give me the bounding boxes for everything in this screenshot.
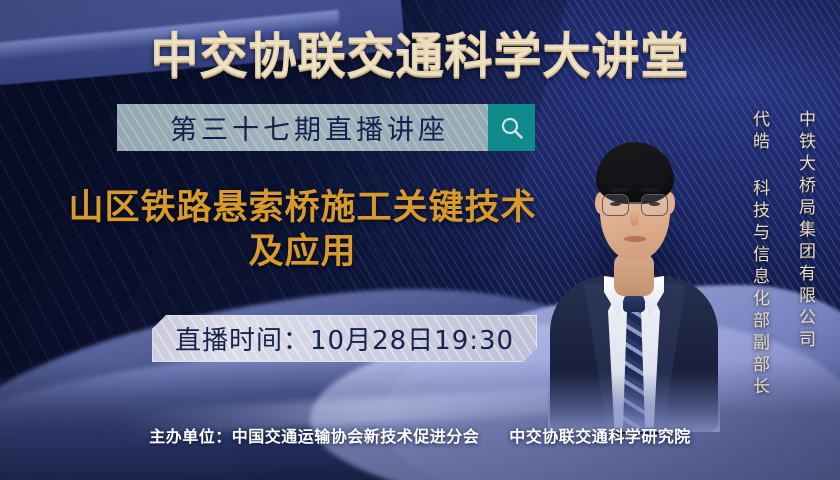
glasses-bridge bbox=[629, 202, 641, 204]
speaker-name-title: 代皓 科技与信息化部副部长 bbox=[747, 110, 772, 399]
search-icon bbox=[499, 115, 525, 141]
portrait-mouth bbox=[624, 236, 646, 242]
footer-org-2: 中交协联交通科学研究院 bbox=[509, 427, 691, 446]
footer-organizers: 主办单位：中国交通运输协会新技术促进分会中交协联交通科学研究院 bbox=[0, 423, 840, 447]
session-bar: 第三十七期直播讲座 bbox=[117, 104, 535, 151]
session-label: 第三十七期直播讲座 bbox=[117, 108, 488, 147]
lecture-topic-line2: 及应用 bbox=[40, 230, 565, 274]
portrait-neck bbox=[614, 254, 654, 296]
lecture-topic: 山区铁路悬索桥施工关键技术 及应用 bbox=[40, 186, 565, 274]
glasses-lens-left bbox=[602, 194, 629, 216]
live-time-text: 直播时间：10月28日19:30 bbox=[175, 320, 514, 357]
page-title: 中交协联交通科学大讲堂 bbox=[0, 16, 840, 86]
lecture-topic-line1: 山区铁路悬索桥施工关键技术 bbox=[68, 188, 536, 228]
live-lecture-poster: 中交协联交通科学大讲堂 第三十七期直播讲座 山区铁路悬索桥施工关键技术 及应用 … bbox=[0, 0, 840, 480]
portrait-nose bbox=[630, 212, 639, 226]
live-time-badge: 直播时间：10月28日19:30 bbox=[152, 315, 537, 362]
footer-prefix: 主办单位： bbox=[149, 427, 232, 446]
footer-org-1: 中国交通运输协会新技术促进分会 bbox=[232, 427, 480, 446]
speaker-organization: 中铁大桥局集团有限公司 bbox=[793, 110, 818, 352]
search-button[interactable] bbox=[488, 104, 535, 151]
glasses-lens-right bbox=[641, 194, 668, 216]
portrait-tie-knot bbox=[623, 296, 645, 312]
speaker-portrait bbox=[548, 96, 720, 432]
